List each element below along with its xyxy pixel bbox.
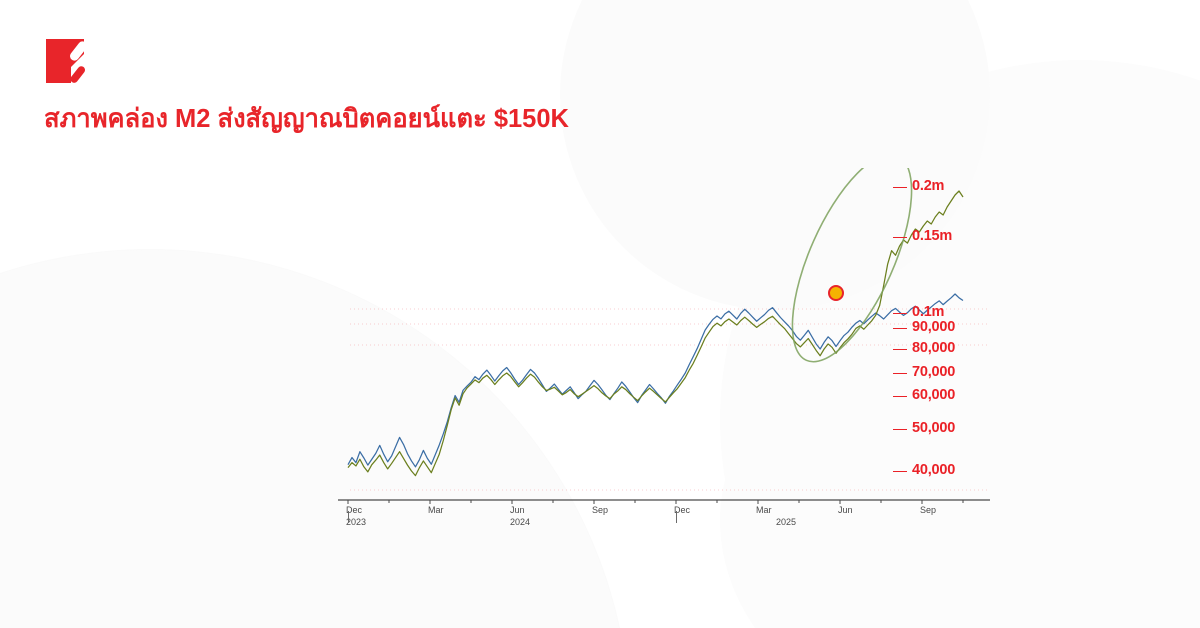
series-paths: [348, 191, 963, 476]
vertical-gridlines: [348, 174, 922, 498]
x-axis-label: Mar: [756, 505, 772, 516]
y-axis-label: 90,000: [912, 319, 955, 335]
y-tick-mark: [893, 373, 907, 374]
x-axis-label: Sep: [592, 505, 608, 516]
y-tick-mark: [893, 313, 907, 314]
y-axis-label: 80,000: [912, 340, 955, 356]
y-axis-label: 40,000: [912, 462, 955, 478]
y-axis-label: 0.1m: [912, 304, 944, 320]
y-tick-mark: [893, 471, 907, 472]
x-axis-label: Mar: [428, 505, 444, 516]
y-axis-label: 60,000: [912, 387, 955, 403]
line-chart: [330, 168, 990, 538]
chart-container: 0.2m0.15m0.1m90,00080,00070,00060,00050,…: [330, 168, 990, 538]
x-axis-label: Jun: [510, 505, 525, 516]
page-title: สภาพคล่อง M2 ส่งสัญญาณบิตคอยน์แตะ $150K: [44, 104, 569, 136]
series-bitcoin-price: [348, 294, 963, 467]
y-axis-label: 0.15m: [912, 228, 952, 244]
x-axis-label: Jun: [838, 505, 853, 516]
x-axis-year-label: 2025: [776, 517, 796, 527]
x-axis-year-label: 2023: [346, 517, 366, 527]
y-tick-mark: [893, 349, 907, 350]
y-tick-mark: [893, 429, 907, 430]
brand-logo-icon: [44, 36, 98, 90]
poster-canvas: สภาพคล่อง M2 ส่งสัญญาณบิตคอยน์แตะ $150K: [0, 0, 1200, 628]
series-global-m2-liquidity: [348, 191, 963, 476]
x-axis-year-label: 2024: [510, 517, 530, 527]
year-separator-2023: [348, 511, 349, 523]
y-tick-mark: [893, 328, 907, 329]
current-price-marker: [829, 286, 843, 300]
y-axis-label: 50,000: [912, 420, 955, 436]
y-axis-label: 0.2m: [912, 178, 944, 194]
forecast-highlight-ellipse: [768, 168, 936, 377]
y-axis-label: 70,000: [912, 364, 955, 380]
y-tick-mark: [893, 396, 907, 397]
secondary-gridlines: [350, 309, 990, 490]
y-tick-mark: [893, 237, 907, 238]
x-axis-label: Sep: [920, 505, 936, 516]
y-tick-mark: [893, 187, 907, 188]
year-separator-2025: [676, 511, 677, 523]
